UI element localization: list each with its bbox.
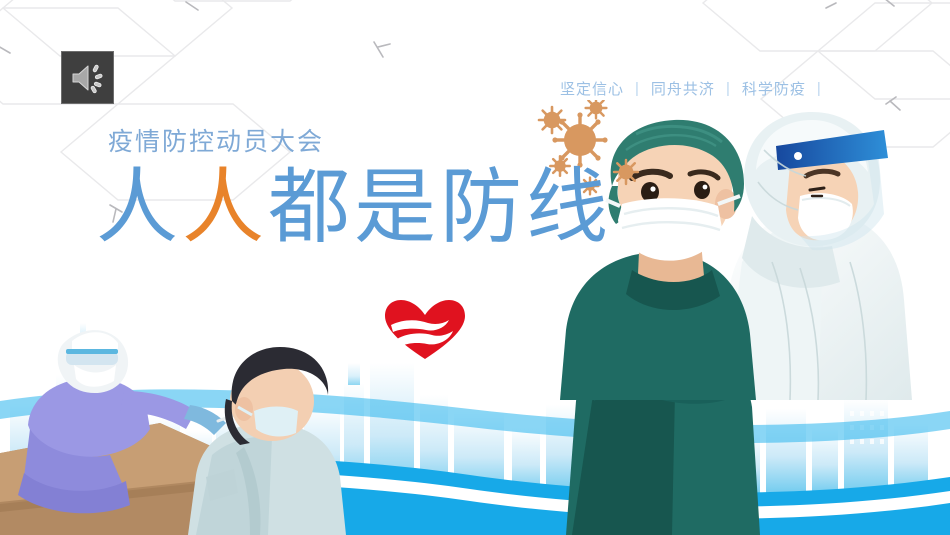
slogan-strip: 坚定信心 | 同舟共济 | 科学防疫 | (560, 78, 833, 99)
slide-subtitle: 疫情防控动员大会 (108, 122, 324, 158)
title-segment-2: 都是防线 (268, 162, 612, 253)
speaker-icon (70, 62, 106, 94)
presentation-slide: 坚定信心 | 同舟共济 | 科学防疫 | 疫情防控动员大会 人人都是防线 (0, 0, 950, 535)
slogan-separator-2: | (726, 80, 731, 97)
virus-icon (539, 107, 565, 133)
title-segment-1: 人 (96, 162, 182, 253)
slide-main-title: 人人都是防线 (96, 167, 612, 249)
slogan-separator-1: | (635, 80, 640, 97)
heart-hands-logo (383, 299, 467, 361)
virus-icon (586, 100, 607, 118)
slogan-item-3: 科学防疫 (742, 78, 806, 99)
title-segment-accent: 人 (182, 162, 268, 253)
slogan-item-2: 同舟共济 (651, 78, 715, 99)
virus-icon (614, 160, 638, 184)
slogan-item-1: 坚定信心 (560, 78, 624, 99)
slogan-separator-3: | (817, 80, 822, 97)
audio-speaker-placeholder[interactable] (61, 51, 114, 104)
